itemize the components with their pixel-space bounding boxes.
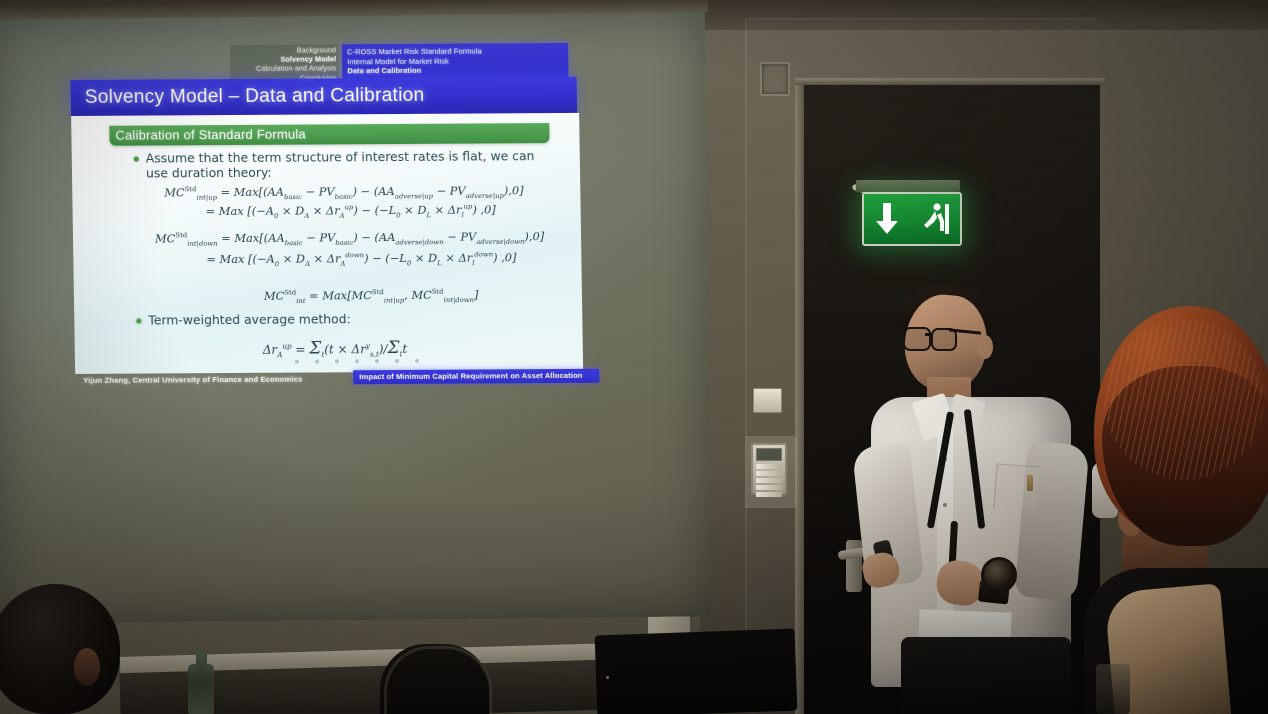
bullet-item-duration-theory: Assume that the term structure of intere…: [134, 149, 552, 181]
equation-mc-int-down-line1: MCStdint|down = Max[(AAbasic − PVbasic) …: [155, 229, 544, 248]
nav-sub-data-and-calibration[interactable]: Data and Calibration: [347, 65, 563, 76]
bullet-text: Term-weighted average method:: [148, 312, 351, 328]
down-arrow-icon: [872, 201, 902, 237]
monitor-screen: [595, 629, 798, 714]
slide-footer-author: Yijun Zhang, Central University of Finan…: [83, 375, 302, 385]
foreground-glass: [1096, 664, 1130, 714]
photo-scene: Background Solvency Model Calculation an…: [0, 0, 1268, 714]
glasses-lens-right: [931, 328, 957, 351]
equation-mc-int-combined: MCStdint = Max[MCStdint|up, MCStdint|dow…: [264, 287, 479, 305]
shirt-pocket-tab: [1027, 475, 1033, 491]
slide-title: Solvency Model – Data and Calibration: [85, 85, 425, 109]
slide-footer-title: Impact of Minimum Capital Requirement on…: [359, 371, 582, 381]
slide-nav-subsections: C-ROSS Market Risk Standard Formula Inte…: [347, 46, 563, 76]
presenter-trousers: [901, 637, 1071, 714]
thermostat-display: [756, 448, 782, 461]
door-frame-left: [795, 80, 804, 714]
door-frame-top: [795, 78, 1105, 85]
bullet-item-term-weighted: Term-weighted average method:: [136, 311, 554, 328]
bullet-dot-icon: [134, 157, 139, 162]
audience-hair-strands: [1104, 320, 1264, 480]
glasses-icon: [903, 327, 931, 351]
presentation-slide: Background Solvency Model Calculation an…: [70, 43, 605, 392]
equation-mc-int-down-line2: = Max [(−A0 × DA × ΔrAdown) − (−L0 × DL …: [206, 250, 516, 268]
equation-mc-int-up-line1: MCStdint|up = Max[(AAbasic − PVbasic) − …: [164, 183, 524, 201]
wall-speaker-icon: [760, 62, 790, 96]
shirt-button: [943, 503, 947, 507]
bullet-dot-icon: [136, 319, 141, 324]
light-switch-primary[interactable]: [753, 388, 782, 413]
block-header-title: Calibration of Standard Formula: [115, 127, 306, 143]
nav-item-calculation-and-analysis[interactable]: Calculation and Analysis: [230, 64, 336, 74]
slide-progress-dots: [295, 355, 535, 366]
audience-person-foreground-left: [0, 584, 120, 714]
monitor-led-icon: [606, 676, 609, 679]
exit-sign-mount: [856, 180, 960, 192]
bullet-text: Assume that the term structure of intere…: [146, 149, 552, 180]
equation-mc-int-up-line2: = Max [(−A0 × DA × ΔrAup) − (−L0 × DL × …: [206, 202, 496, 220]
audience-left-ear: [74, 648, 100, 686]
presenter-ear: [977, 335, 993, 359]
wristwatch-icon: [981, 557, 1017, 593]
slide-nav-sections: Background Solvency Model Calculation an…: [230, 45, 337, 82]
emergency-exit-sign: [862, 192, 962, 246]
glass-bottle[interactable]: [188, 664, 214, 714]
wall-thermostat-panel[interactable]: [751, 443, 787, 495]
audience-person-red-hair: [1094, 306, 1268, 714]
running-person-exit-icon: [918, 201, 952, 237]
glasses-bridge: [925, 333, 933, 336]
thermostat-buttons[interactable]: [756, 464, 782, 497]
presenter-person: [845, 285, 1095, 714]
chair-back-rim: [384, 646, 492, 714]
